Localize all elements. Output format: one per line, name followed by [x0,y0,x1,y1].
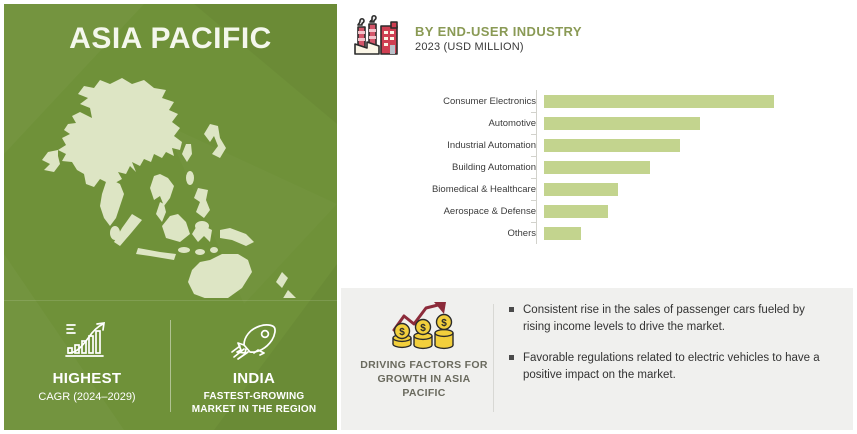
bar-category-label: Industrial Automation [341,140,544,151]
bar [544,95,774,108]
chart-header: BY END-USER INDUSTRY 2023 (USD MILLION) [347,10,582,67]
asia-pacific-map-icon [14,66,329,298]
rocket-icon [228,318,280,362]
axis-tick [531,112,536,113]
bar [544,117,700,130]
driving-factors-card: $ $ $ DRIVING FACTORS FOR GROWTH IN ASIA… [341,288,853,430]
svg-text:$: $ [441,318,447,329]
page-title: ASIA PACIFIC [4,22,337,56]
bar-row: Biomedical & Healthcare [341,178,853,200]
bar [544,183,618,196]
infographic-root: ASIA PACIFIC [0,0,857,434]
bar-row: Industrial Automation [341,134,853,156]
stat-subtitle: CAGR (2024–2029) [38,390,135,404]
chart-subtitle: 2023 (USD MILLION) [415,41,582,53]
bar-chart: Consumer ElectronicsAutomotiveIndustrial… [341,90,853,262]
bar-row: Others [341,222,853,244]
bar [544,227,581,240]
bar-category-label: Consumer Electronics [341,96,544,107]
bullet-text: Favorable regulations related to electri… [523,350,835,384]
factors-divider [493,304,494,412]
stat-subtitle: FASTEST-GROWING MARKET IN THE REGION [184,390,324,416]
bar-category-label: Others [341,228,544,239]
svg-text:$: $ [399,327,405,338]
bar [544,161,650,174]
bar-row: Automotive [341,112,853,134]
svg-text:$: $ [420,323,426,334]
bar-row: Consumer Electronics [341,90,853,112]
bar-rows: Consumer ElectronicsAutomotiveIndustrial… [341,90,853,244]
axis-tick [531,200,536,201]
factory-icon [347,10,405,67]
bullet-marker-icon [509,355,514,360]
chart-title: BY END-USER INDUSTRY [415,24,582,39]
bullet-item: Consistent rise in the sales of passenge… [509,302,835,336]
bar [544,205,608,218]
region-panel: ASIA PACIFIC [4,4,337,430]
bar-category-label: Building Automation [341,162,544,173]
bar-category-label: Automotive [341,118,544,129]
stat-title: INDIA [233,370,275,387]
region-stats: HIGHEST CAGR (2024–2029) INDIA FASTEST-G… [4,306,337,430]
stat-highest-cagr: HIGHEST CAGR (2024–2029) [4,306,170,404]
axis-tick [531,134,536,135]
driving-factors-bullets: Consistent rise in the sales of passenge… [509,302,835,398]
bar-category-label: Biomedical & Healthcare [341,184,544,195]
bar [544,139,680,152]
bullet-marker-icon [509,307,514,312]
bullet-text: Consistent rise in the sales of passenge… [523,302,835,336]
axis-tick [531,156,536,157]
asia-pacific-map [14,66,329,298]
panel-divider [4,300,337,301]
bullet-item: Favorable regulations related to electri… [509,350,835,384]
axis-tick [531,222,536,223]
bar-row: Aerospace & Defense [341,200,853,222]
chart-card: BY END-USER INDUSTRY 2023 (USD MILLION) … [341,4,853,284]
driving-factors-caption: DRIVING FACTORS FOR GROWTH IN ASIA PACIF… [359,358,489,400]
driving-factors-label: $ $ $ DRIVING FACTORS FOR GROWTH IN ASIA… [359,300,489,400]
bar-category-label: Aerospace & Defense [341,206,544,217]
stat-fastest-growing-country: INDIA FASTEST-GROWING MARKET IN THE REGI… [171,306,337,416]
bar-row: Building Automation [341,156,853,178]
axis-tick [531,178,536,179]
growth-bar-chart-icon [61,318,113,362]
stat-title: HIGHEST [53,370,122,387]
money-growth-icon: $ $ $ [386,300,462,352]
